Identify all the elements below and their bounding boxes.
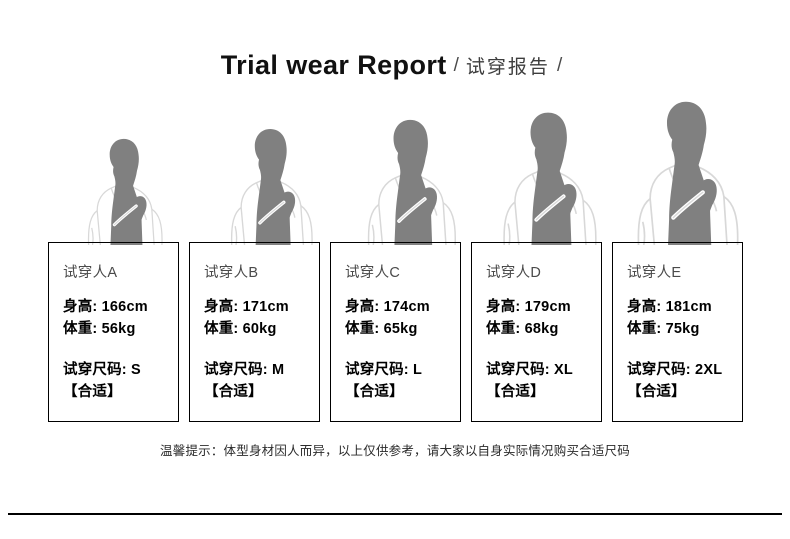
height-value: 身高: 171cm bbox=[204, 296, 319, 318]
page-title: Trial wear Report/试穿报告/ bbox=[0, 50, 790, 81]
size-value: 试穿尺码: 2XL bbox=[627, 359, 742, 381]
trial-wear-card: 试穿人D 身高: 179cm 体重: 68kg 试穿尺码: XL 【合适】 bbox=[471, 242, 602, 422]
trial-wear-card: 试穿人A 身高: 166cm 体重: 56kg 试穿尺码: S 【合适】 bbox=[48, 242, 179, 422]
model-silhouette-d bbox=[476, 99, 622, 245]
height-value: 身高: 174cm bbox=[345, 296, 460, 318]
footer-note: 温馨提示：体型身材因人而异，以上仅供参考，请大家以自身实际情况购买合适尺码 bbox=[0, 440, 790, 459]
size-value: 试穿尺码: S bbox=[63, 359, 178, 381]
trial-wear-card: 试穿人E 身高: 181cm 体重: 75kg 试穿尺码: 2XL 【合适】 bbox=[612, 242, 743, 422]
person-label: 试穿人B bbox=[204, 261, 319, 282]
card-spacer bbox=[627, 341, 742, 359]
fit-badge: 【合适】 bbox=[345, 381, 460, 403]
height-value: 身高: 179cm bbox=[486, 296, 601, 318]
model-silhouette-b bbox=[207, 117, 335, 245]
card-spacer bbox=[63, 341, 178, 359]
weight-value: 体重: 75kg bbox=[627, 318, 742, 340]
trial-wear-card: 试穿人B 身高: 171cm 体重: 60kg 试穿尺码: M 【合适】 bbox=[189, 242, 320, 422]
person-label: 试穿人A bbox=[63, 261, 178, 282]
height-value: 身高: 166cm bbox=[63, 296, 178, 318]
person-label: 试穿人E bbox=[627, 261, 742, 282]
person-label: 试穿人D bbox=[486, 261, 601, 282]
model-silhouette-a bbox=[66, 128, 183, 245]
weight-value: 体重: 56kg bbox=[63, 318, 178, 340]
title-english: Trial wear Report bbox=[221, 50, 447, 80]
card-spacer bbox=[204, 341, 319, 359]
person-label: 试穿人C bbox=[345, 261, 460, 282]
title-separator-left: / bbox=[447, 55, 466, 76]
fit-badge: 【合适】 bbox=[486, 381, 601, 403]
size-value: 试穿尺码: L bbox=[345, 359, 460, 381]
height-value: 身高: 181cm bbox=[627, 296, 742, 318]
weight-value: 体重: 60kg bbox=[204, 318, 319, 340]
weight-value: 体重: 65kg bbox=[345, 318, 460, 340]
trial-wear-card: 试穿人C 身高: 174cm 体重: 65kg 试穿尺码: L 【合适】 bbox=[330, 242, 461, 422]
weight-value: 体重: 68kg bbox=[486, 318, 601, 340]
model-silhouette-row bbox=[0, 100, 790, 245]
bottom-divider bbox=[8, 513, 782, 515]
title-separator-right: / bbox=[550, 55, 569, 76]
size-value: 试穿尺码: M bbox=[204, 359, 319, 381]
model-silhouette-e bbox=[608, 87, 766, 245]
fit-badge: 【合适】 bbox=[627, 381, 742, 403]
fit-badge: 【合适】 bbox=[63, 381, 178, 403]
card-spacer bbox=[345, 341, 460, 359]
fit-badge: 【合适】 bbox=[204, 381, 319, 403]
trial-wear-card-row: 试穿人A 身高: 166cm 体重: 56kg 试穿尺码: S 【合适】 试穿人… bbox=[48, 242, 743, 422]
card-spacer bbox=[486, 341, 601, 359]
model-silhouette-c bbox=[342, 107, 480, 245]
size-value: 试穿尺码: XL bbox=[486, 359, 601, 381]
title-chinese: 试穿报告 bbox=[466, 57, 550, 78]
